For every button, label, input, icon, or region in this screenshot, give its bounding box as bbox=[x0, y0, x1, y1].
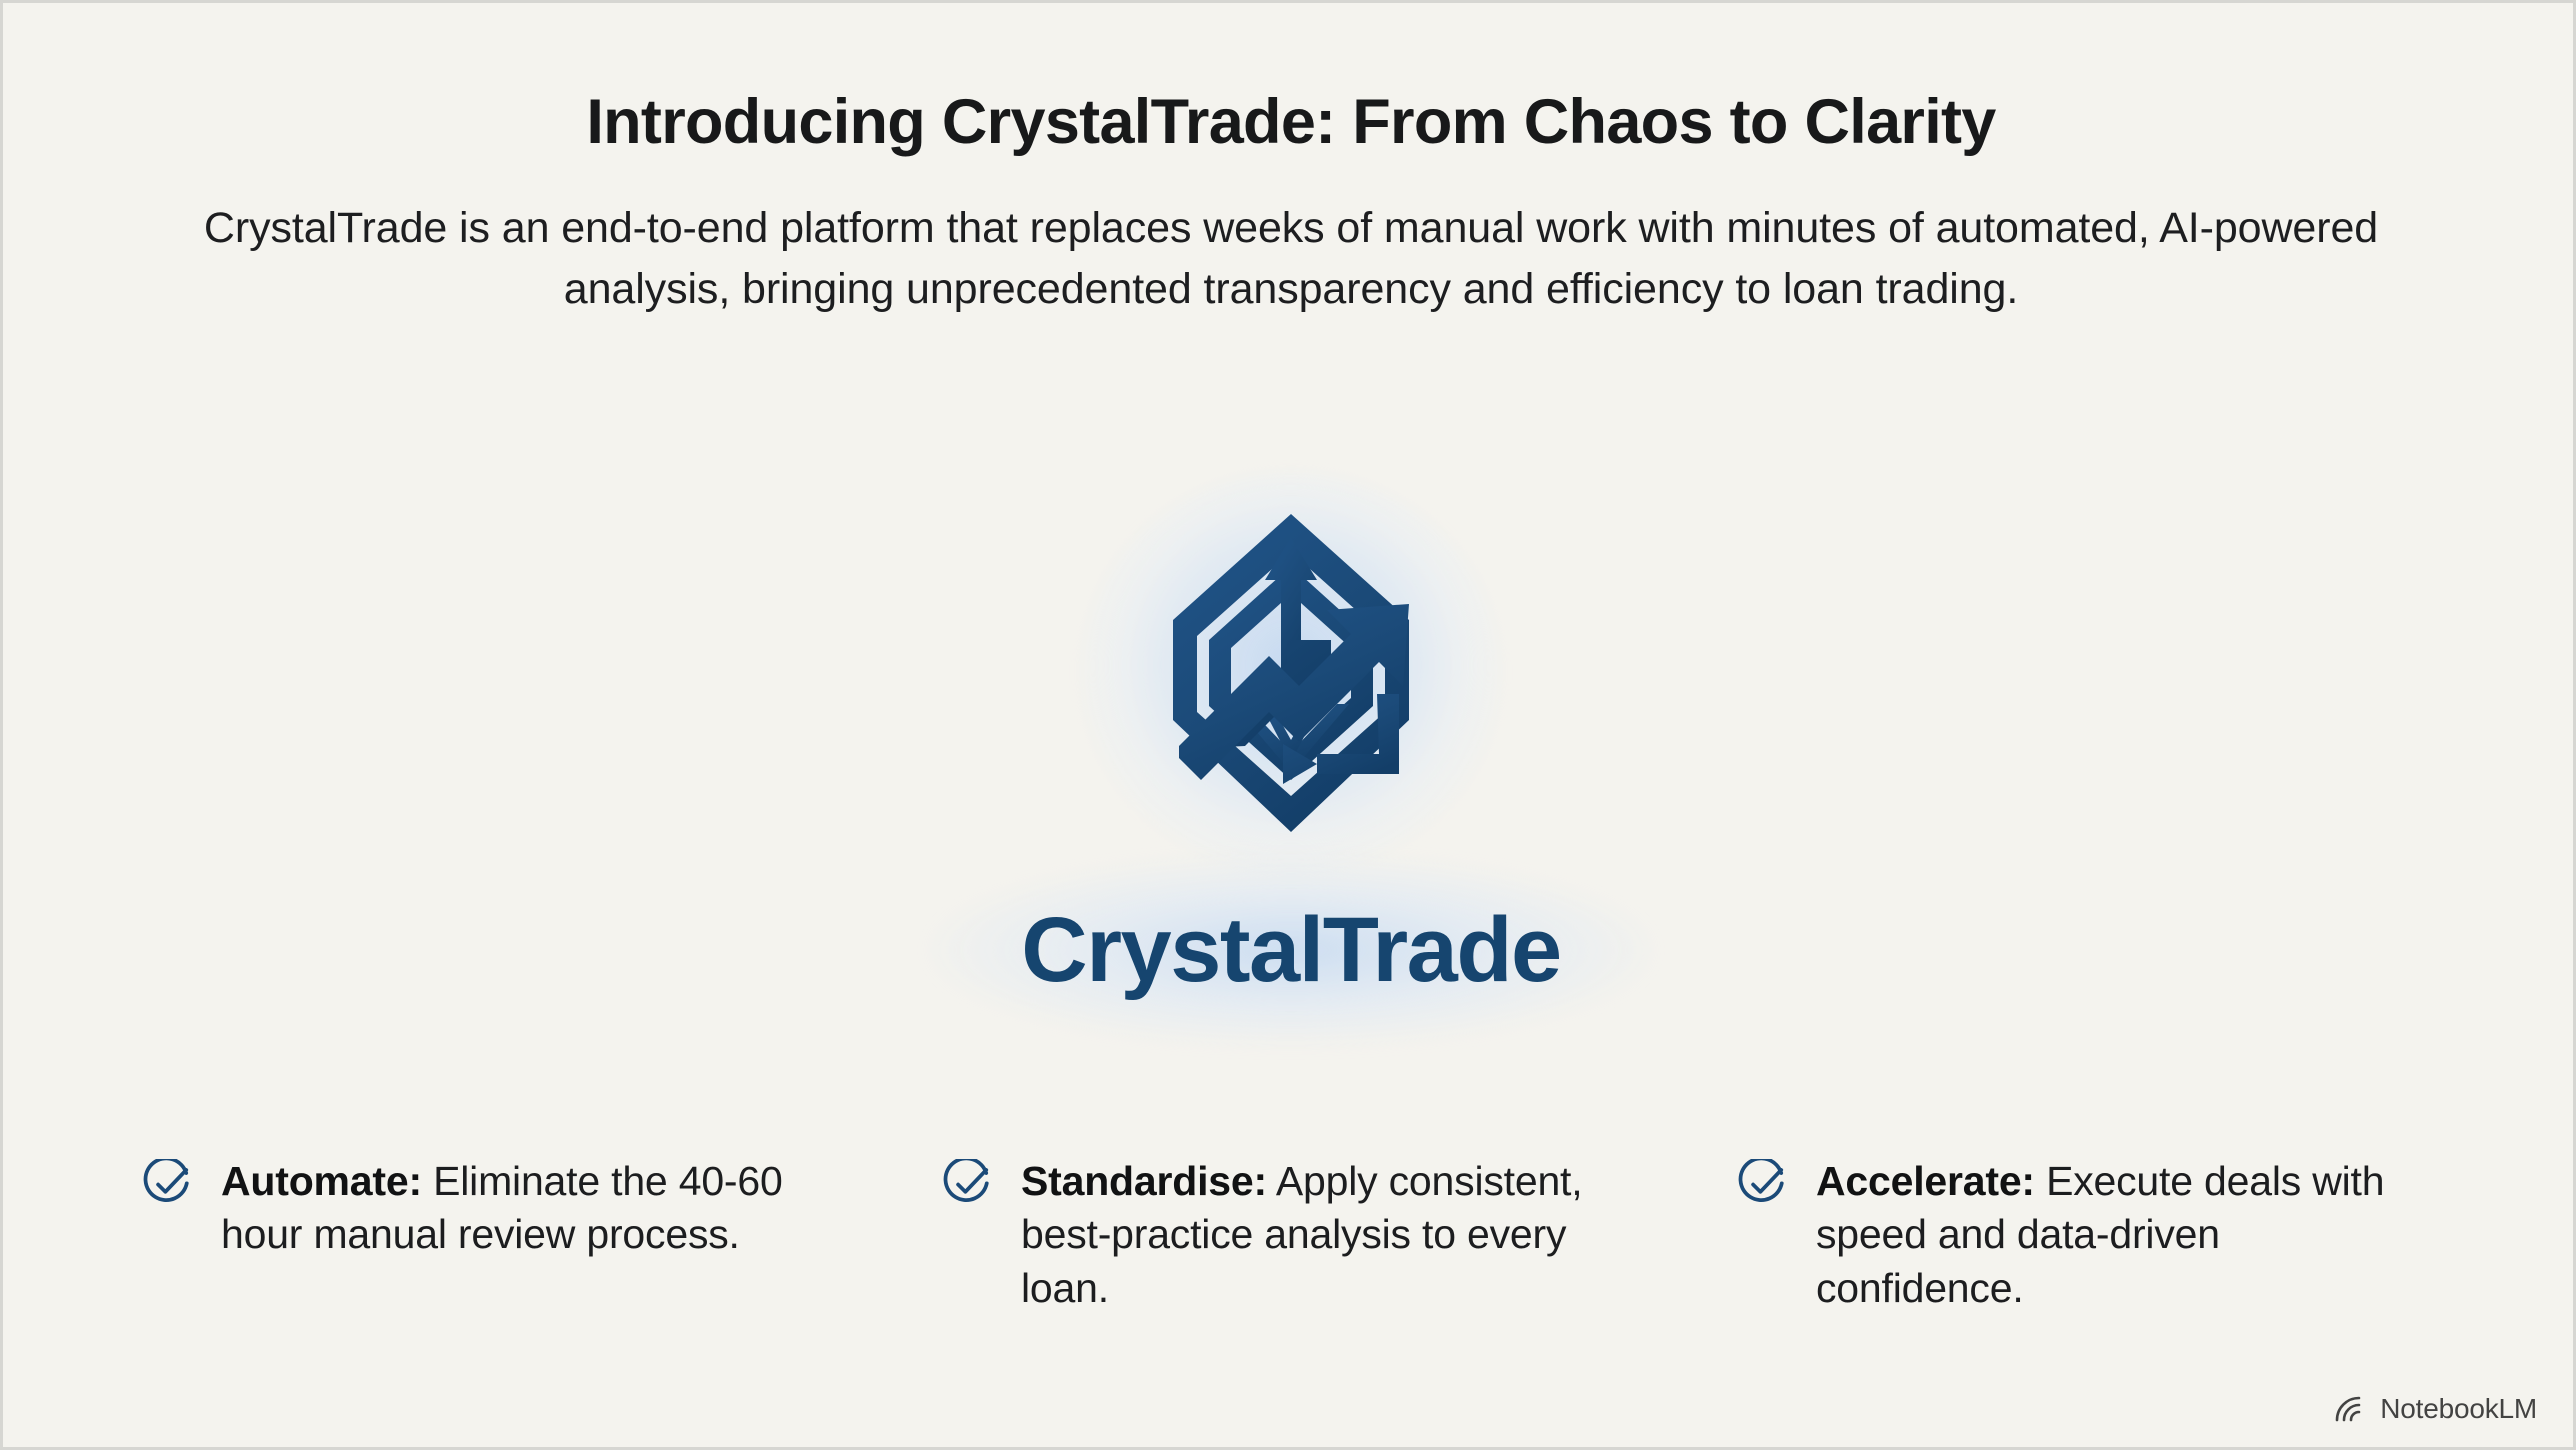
brand-logo-block: CrystalTrade bbox=[3, 473, 2576, 1015]
slide-header: Introducing CrystalTrade: From Chaos to … bbox=[3, 91, 2576, 320]
crystal-diamond-growth-arrows-icon bbox=[1141, 508, 1441, 838]
benefit-lead: Automate: bbox=[221, 1158, 422, 1204]
check-circle-icon bbox=[1738, 1159, 1788, 1209]
benefit-text: Standardise: Apply consistent, best-prac… bbox=[1021, 1155, 1611, 1315]
watermark-label: NotebookLM bbox=[2380, 1393, 2537, 1425]
logo-glow bbox=[1081, 473, 1501, 873]
benefit-item-automate: Automate: Eliminate the 40-60 hour manua… bbox=[143, 1155, 943, 1262]
notebooklm-watermark: NotebookLM bbox=[2335, 1393, 2537, 1425]
benefit-text: Accelerate: Execute deals with speed and… bbox=[1816, 1155, 2406, 1315]
key-benefits-row: Automate: Eliminate the 40-60 hour manua… bbox=[143, 1155, 2443, 1315]
check-circle-icon bbox=[143, 1159, 193, 1209]
benefit-item-accelerate: Accelerate: Execute deals with speed and… bbox=[1738, 1155, 2443, 1315]
slide-subtitle: CrystalTrade is an end-to-end platform t… bbox=[141, 198, 2441, 320]
check-circle-icon bbox=[943, 1159, 993, 1209]
benefit-lead: Standardise: bbox=[1021, 1158, 1267, 1204]
benefit-text: Automate: Eliminate the 40-60 hour manua… bbox=[221, 1155, 811, 1262]
wordmark-glow: CrystalTrade bbox=[841, 885, 1741, 1015]
benefit-lead: Accelerate: bbox=[1816, 1158, 2035, 1204]
benefit-item-standardise: Standardise: Apply consistent, best-prac… bbox=[943, 1155, 1738, 1315]
slide-canvas: Introducing CrystalTrade: From Chaos to … bbox=[0, 0, 2576, 1450]
page-title: Introducing CrystalTrade: From Chaos to … bbox=[3, 91, 2576, 154]
brand-wordmark: CrystalTrade bbox=[1021, 904, 1560, 996]
notebooklm-spiral-icon bbox=[2335, 1396, 2369, 1422]
